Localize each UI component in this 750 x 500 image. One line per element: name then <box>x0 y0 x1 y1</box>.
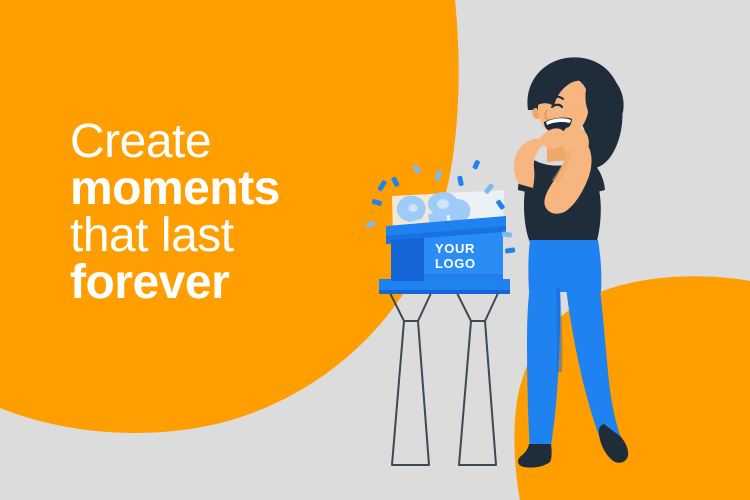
gift-logo-line2: LOGO <box>435 256 476 271</box>
gift-logo-line1: YOUR <box>435 241 475 256</box>
headline-line-3: that last <box>70 212 400 259</box>
headline: Create moments that last forever <box>70 118 400 306</box>
headline-line-4: forever <box>70 259 400 306</box>
headline-line-1: Create <box>70 118 400 165</box>
gift-box: YOUR LOGO <box>386 190 506 281</box>
promo-banner: YOUR LOGO <box>0 0 750 500</box>
character-hips <box>528 240 601 292</box>
headline-line-2: moments <box>70 165 400 212</box>
gift-box-base-shade <box>391 274 503 281</box>
